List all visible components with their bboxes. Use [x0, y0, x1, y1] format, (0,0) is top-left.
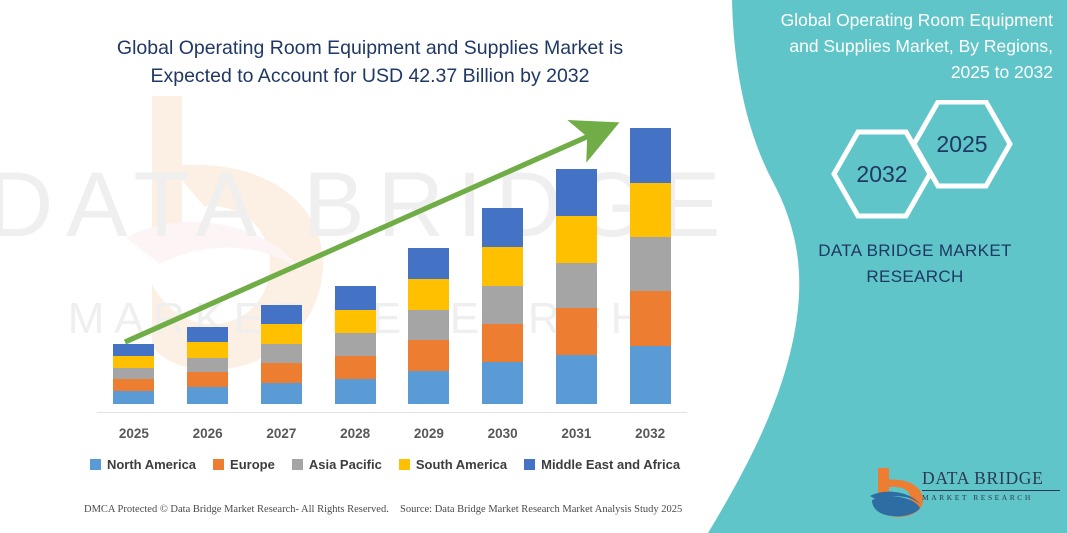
bar-segment	[556, 263, 597, 309]
logo-wordmark: DATA BRIDGE MARKET RESEARCH	[922, 470, 1062, 501]
stacked-bar[interactable]	[335, 286, 376, 404]
chart-plot-area	[75, 110, 695, 412]
bar-segment	[408, 340, 449, 371]
panel-heading-line1: Global Operating Room Equipment	[735, 8, 1053, 34]
bar-segment	[556, 308, 597, 354]
regions-panel: Global Operating Room Equipment and Supp…	[660, 0, 1067, 533]
bar-segment	[408, 248, 449, 279]
legend-swatch-icon	[90, 459, 101, 470]
logo-name: DATA BRIDGE	[922, 470, 1062, 488]
bar-column-2030	[468, 208, 538, 404]
stacked-bar[interactable]	[408, 248, 449, 404]
bar-segment	[113, 391, 154, 404]
stacked-bar[interactable]	[556, 169, 597, 404]
bar-segment	[113, 368, 154, 379]
bar-segment	[187, 387, 228, 404]
bar-segment	[261, 344, 302, 363]
x-axis-label: 2029	[394, 426, 464, 441]
panel-heading: Global Operating Room Equipment and Supp…	[735, 8, 1053, 86]
legend-swatch-icon	[213, 459, 224, 470]
legend-item[interactable]: Asia Pacific	[292, 457, 382, 472]
bar-column-2029	[394, 248, 464, 404]
panel-brand-line2: RESEARCH	[790, 264, 1040, 290]
bar-segment	[482, 286, 523, 324]
year-hexagons: 2025 2032	[800, 100, 1050, 220]
bar-segment	[335, 310, 376, 333]
panel-content: Global Operating Room Equipment and Supp…	[660, 0, 1067, 533]
panel-heading-line3: 2025 to 2032	[735, 60, 1053, 86]
legend-label: South America	[416, 457, 507, 472]
infographic-canvas: DATA BRIDGE MARKET RESEARCH Global Opera…	[0, 0, 1067, 533]
legend-swatch-icon	[292, 459, 303, 470]
panel-brand-text: DATA BRIDGE MARKET RESEARCH	[790, 238, 1040, 289]
bar-segment	[335, 333, 376, 356]
bar-column-2028	[320, 286, 390, 404]
logo-divider	[922, 490, 1060, 491]
bar-segment	[556, 169, 597, 216]
x-axis-label: 2031	[541, 426, 611, 441]
hexagon-2025-label: 2025	[936, 131, 987, 157]
legend-item[interactable]: South America	[399, 457, 507, 472]
x-axis-label: 2030	[468, 426, 538, 441]
page-title: Global Operating Room Equipment and Supp…	[90, 34, 650, 91]
footer-source-text: Source: Data Bridge Market Research Mark…	[400, 504, 682, 515]
x-axis-label: 2027	[246, 426, 316, 441]
bar-segment	[261, 383, 302, 405]
panel-heading-line2: and Supplies Market, By Regions,	[735, 34, 1053, 60]
bar-segment	[187, 327, 228, 342]
legend-label: North America	[107, 457, 196, 472]
bar-segment	[113, 379, 154, 391]
hexagon-2032-badge: 2032	[834, 132, 930, 216]
footer: DMCA Protected © Data Bridge Market Rese…	[0, 504, 720, 526]
stacked-bar[interactable]	[482, 208, 523, 404]
bar-segment	[113, 356, 154, 368]
x-axis-labels: 20252026202720282029203020312032	[97, 422, 687, 444]
bar-segment	[482, 208, 523, 247]
x-axis-label: 2026	[173, 426, 243, 441]
bar-segment	[556, 216, 597, 263]
legend-swatch-icon	[399, 459, 410, 470]
bar-segment	[335, 356, 376, 379]
bar-segment	[187, 342, 228, 358]
bar-segment	[335, 379, 376, 404]
legend-item[interactable]: Europe	[213, 457, 275, 472]
legend-item[interactable]: North America	[90, 457, 196, 472]
bar-segment	[408, 371, 449, 404]
bar-segment	[482, 362, 523, 404]
bar-group	[97, 110, 687, 404]
legend-label: Europe	[230, 457, 275, 472]
bar-segment	[261, 305, 302, 324]
stacked-bar[interactable]	[261, 305, 302, 404]
bar-segment	[408, 279, 449, 310]
legend-item[interactable]: Middle East and Africa	[524, 457, 680, 472]
bar-column-2026	[173, 327, 243, 404]
bar-segment	[187, 372, 228, 387]
bar-segment	[335, 286, 376, 309]
stacked-bar-chart	[75, 110, 695, 420]
page-title-line1: Global Operating Room Equipment and Supp…	[90, 34, 650, 62]
stacked-bar[interactable]	[187, 327, 228, 404]
page-title-line2: Expected to Account for USD 42.37 Billio…	[90, 62, 650, 90]
bar-segment	[408, 310, 449, 340]
x-axis-line	[97, 412, 687, 413]
hexagon-2032-label: 2032	[856, 161, 907, 187]
bar-segment	[261, 363, 302, 383]
chart-legend: North AmericaEuropeAsia PacificSouth Ame…	[75, 452, 695, 476]
panel-brand-line1: DATA BRIDGE MARKET	[790, 238, 1040, 264]
bar-segment	[482, 324, 523, 362]
bar-segment	[261, 324, 302, 344]
bar-segment	[187, 358, 228, 372]
logo-subtitle: MARKET RESEARCH	[922, 494, 1062, 502]
bar-segment	[556, 355, 597, 405]
bar-segment	[113, 344, 154, 356]
legend-swatch-icon	[524, 459, 535, 470]
x-axis-label: 2028	[320, 426, 390, 441]
bar-column-2027	[246, 305, 316, 404]
footer-dmca-text: DMCA Protected © Data Bridge Market Rese…	[84, 504, 389, 515]
bar-segment	[482, 247, 523, 286]
stacked-bar[interactable]	[113, 344, 154, 404]
legend-label: Asia Pacific	[309, 457, 382, 472]
bar-column-2031	[541, 169, 611, 404]
x-axis-label: 2025	[99, 426, 169, 441]
bar-column-2025	[99, 344, 169, 404]
